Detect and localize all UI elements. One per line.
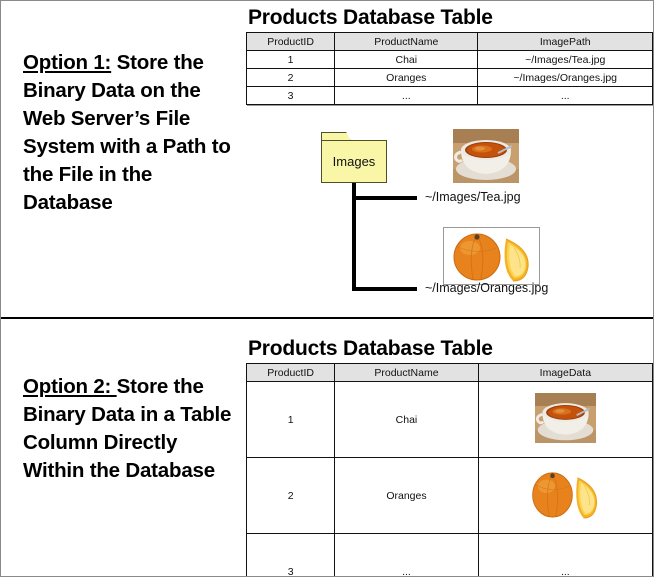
table-header-row: ProductID ProductName ImagePath <box>247 33 653 51</box>
folder-icon: Images <box>321 132 387 183</box>
option-2-table-title: Products Database Table <box>248 337 493 361</box>
file-path-label-oranges: ~/Images/Oranges.jpg <box>425 281 548 295</box>
column-header-imagedata: ImageData <box>478 364 652 382</box>
file-path-label-tea: ~/Images/Tea.jpg <box>425 190 521 204</box>
cell-imagedata: ... <box>478 534 652 577</box>
cell-imagedata <box>478 458 652 534</box>
cell-productname: ... <box>335 87 478 105</box>
oranges-photo <box>524 469 606 519</box>
cell-imagedata <box>478 382 652 458</box>
diagram-slide: Option 1: Store the Binary Data on the W… <box>0 0 654 577</box>
cell-imagepath: ... <box>478 87 653 105</box>
option-1-description: Option 1: Store the Binary Data on the W… <box>23 49 235 217</box>
table-row: 3 ... ... <box>247 87 653 105</box>
cell-productid: 2 <box>247 458 335 534</box>
folder-label: Images <box>333 154 376 169</box>
folder-body: Images <box>321 140 387 183</box>
table-row: 2 Oranges ~/Images/Oranges.jpg <box>247 69 653 87</box>
option-1-table-title: Products Database Table <box>248 6 493 30</box>
cell-productname: Chai <box>335 51 478 69</box>
panel-divider <box>1 317 654 319</box>
option-2-lead: Option 2: <box>23 375 117 398</box>
oranges-photo <box>443 227 540 285</box>
column-header-productid: ProductID <box>247 364 335 382</box>
column-header-imagepath: ImagePath <box>478 33 653 51</box>
tea-cup-photo <box>453 129 519 183</box>
option-2-description: Option 2: Store the Binary Data in a Tab… <box>23 373 235 485</box>
cell-productname: Oranges <box>335 458 479 534</box>
cell-productid: 1 <box>247 51 335 69</box>
column-header-productid: ProductID <box>247 33 335 51</box>
option-1-lead: Option 1: <box>23 51 111 74</box>
table-header-row: ProductID ProductName ImageData <box>247 364 653 382</box>
cell-productid: 3 <box>247 87 335 105</box>
table-row: 3 ... ... <box>247 534 653 577</box>
cell-productid: 2 <box>247 69 335 87</box>
tree-branch-line-tea <box>352 196 417 200</box>
table-row: 2 Oranges <box>247 458 653 534</box>
cell-imagepath: ~/Images/Tea.jpg <box>478 51 653 69</box>
column-header-productname: ProductName <box>335 33 478 51</box>
cell-imagepath: ~/Images/Oranges.jpg <box>478 69 653 87</box>
tea-cup-photo <box>535 393 596 443</box>
products-table-imagepath: ProductID ProductName ImagePath 1 Chai ~… <box>246 32 653 105</box>
cell-productname: ... <box>335 534 479 577</box>
column-header-productname: ProductName <box>335 364 479 382</box>
tree-branch-line-oranges <box>352 287 417 291</box>
cell-productname: Oranges <box>335 69 478 87</box>
products-table-imagedata: ProductID ProductName ImageData 1 Chai <box>246 363 653 577</box>
table-row: 1 Chai <box>247 382 653 458</box>
cell-productid: 3 <box>247 534 335 577</box>
option-1-body: Store the Binary Data on the Web Server’… <box>23 51 231 214</box>
cell-productid: 1 <box>247 382 335 458</box>
table-row: 1 Chai ~/Images/Tea.jpg <box>247 51 653 69</box>
cell-productname: Chai <box>335 382 479 458</box>
